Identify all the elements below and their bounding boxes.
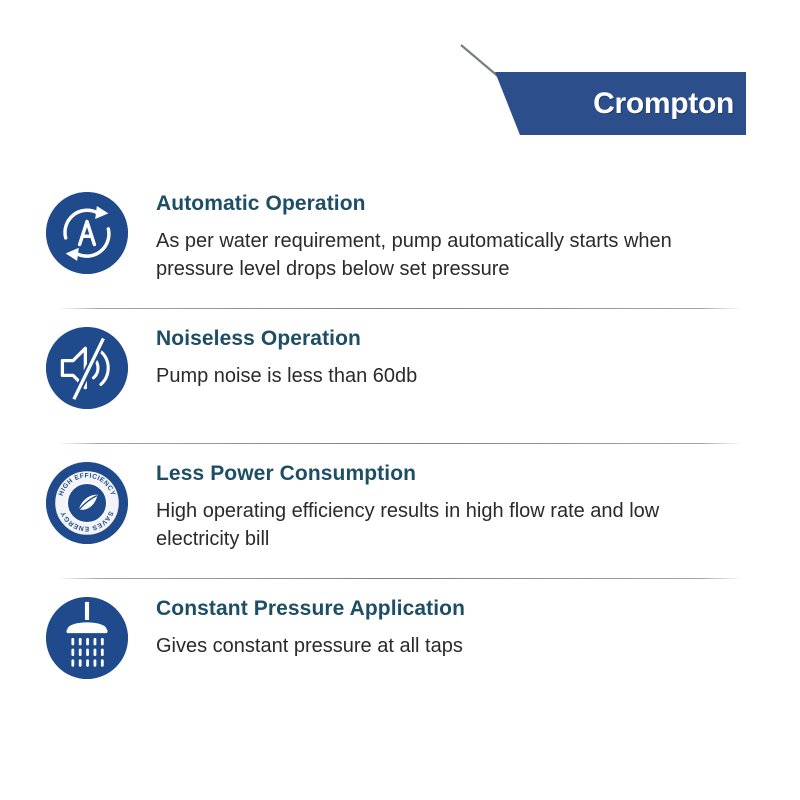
feature-icon-wrapper: HIGH EFFICIENCY SAVES ENERGY xyxy=(46,462,128,544)
feature-icon-wrapper xyxy=(46,327,128,409)
feature-description: Pump noise is less than 60db xyxy=(156,362,726,391)
feature-row: Noiseless Operation Pump noise is less t… xyxy=(0,317,800,435)
feature-text: Less Power Consumption High operating ef… xyxy=(156,452,754,554)
feature-title: Constant Pressure Application xyxy=(156,597,754,621)
feature-title: Automatic Operation xyxy=(156,192,754,216)
shower-icon xyxy=(46,597,128,679)
brand-name: Crompton xyxy=(593,87,734,121)
brand-banner: Crompton xyxy=(492,72,746,135)
section-divider xyxy=(58,308,742,309)
feature-list: Automatic Operation As per water require… xyxy=(0,182,800,705)
feature-row: HIGH EFFICIENCY SAVES ENERGY Less Power … xyxy=(0,452,800,570)
feature-title: Less Power Consumption xyxy=(156,462,754,486)
brand-tick-icon xyxy=(460,44,502,80)
feature-description: As per water requirement, pump automatic… xyxy=(156,227,726,285)
feature-text: Automatic Operation As per water require… xyxy=(156,182,754,284)
section-divider xyxy=(58,443,742,444)
feature-title: Noiseless Operation xyxy=(156,327,754,351)
brand-header: Crompton xyxy=(0,0,800,160)
feature-text: Constant Pressure Application Gives cons… xyxy=(156,587,754,660)
feature-description: High operating efficiency results in hig… xyxy=(156,497,726,555)
feature-row: Automatic Operation As per water require… xyxy=(0,182,800,300)
feature-description: Gives constant pressure at all taps xyxy=(156,632,726,661)
section-divider xyxy=(58,578,742,579)
noiseless-operation-icon xyxy=(46,327,128,409)
feature-text: Noiseless Operation Pump noise is less t… xyxy=(156,317,754,390)
feature-icon-wrapper xyxy=(46,597,128,679)
feature-icon-wrapper xyxy=(46,192,128,274)
feature-row: Constant Pressure Application Gives cons… xyxy=(0,587,800,705)
automatic-operation-icon xyxy=(46,192,128,274)
high-efficiency-badge-icon: HIGH EFFICIENCY SAVES ENERGY xyxy=(46,462,128,544)
